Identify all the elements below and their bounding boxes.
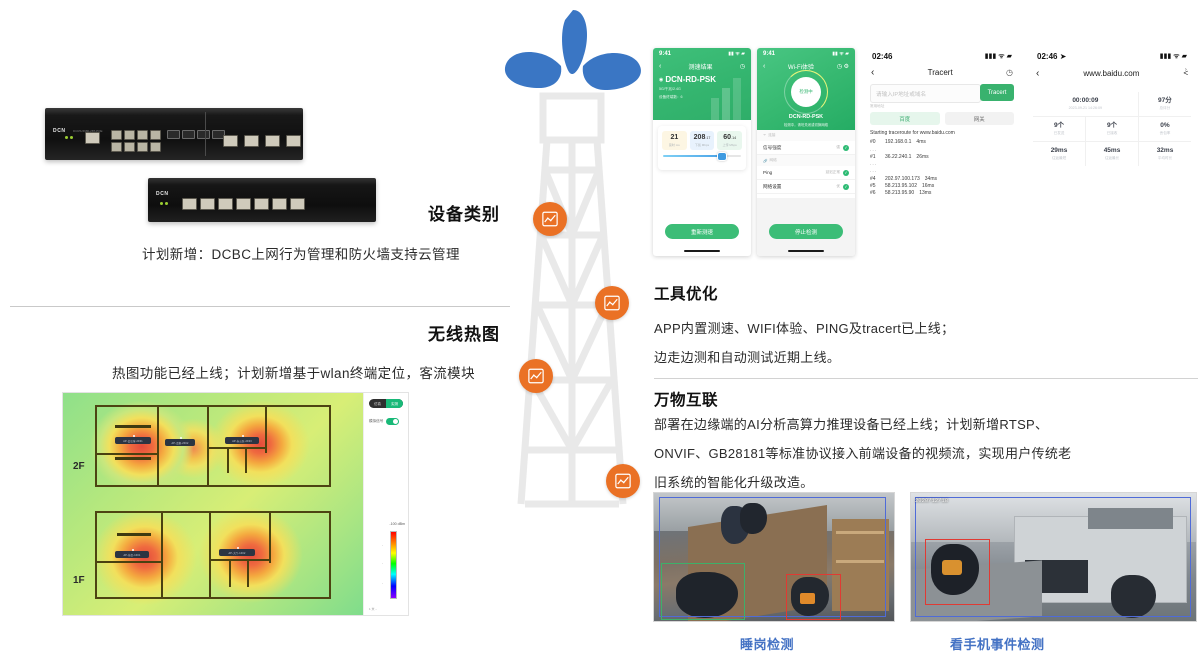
page-title-url: www.baidu.com xyxy=(1083,69,1139,78)
hop-row: #658.213.95.9013ms xyxy=(870,191,1020,196)
speedtest-header: 9:41 ▮▮ ᯤ ▰ ‹ 测速结果 ◷ ◉ DCN-RD-PSK 5G/千兆/… xyxy=(653,48,751,120)
detection-box-alert xyxy=(925,539,990,605)
section-title-device-category: 设备类别 xyxy=(428,200,500,225)
floor-label-2f: 2F xyxy=(73,461,85,472)
segment-option-simulated[interactable]: 仿真 xyxy=(369,399,386,408)
metric-rtt-avg: 32ms 平均时长 xyxy=(1139,142,1191,166)
detection-box-person xyxy=(661,563,745,620)
metric-rtt-max: 45ms 往返最长 xyxy=(1086,142,1139,166)
back-icon[interactable]: ‹ xyxy=(1036,68,1039,79)
petal-center xyxy=(562,10,587,74)
metrics-row: 29ms 往返最短 45ms 往返最长 32ms 平均时长 xyxy=(1033,142,1191,166)
status-time: 02:46 xyxy=(872,52,892,61)
divider-right xyxy=(654,378,1198,379)
metric-duration: 00:00:09 2023-09-21 14:26:09 xyxy=(1033,92,1139,116)
list-item[interactable]: 信号强度 强✓ xyxy=(757,141,855,155)
ssid-sub2: 设备终端数：6 xyxy=(659,95,683,100)
tool-opt-line1: APP内置测速、WIFI体验、PING及tracert已上线； xyxy=(654,318,954,337)
simulated-signal-label: 模拟信号 xyxy=(369,419,383,424)
nav-bar: ‹ 测速结果 ◷ xyxy=(653,60,751,72)
ap-marker[interactable]: AP-前台-1F01 xyxy=(115,551,149,558)
heatmap-side-panel: 仿真 实测 模拟信号 -100 dBm - - - 1 米 ⎯ xyxy=(363,393,408,615)
phone-screenshot-tracert: 02:46 ▮▮▮ ᯤ ▰ ‹ Tracert ◷ 请输入IP地址或域名 Tra… xyxy=(862,48,1022,256)
metric-sent: 9个 已发送 xyxy=(1033,117,1086,141)
ap-marker[interactable]: AP-办公区-2F03 xyxy=(225,437,259,444)
phone-screenshot-webtest: 02:46 ➤ ▮▮▮ ᯤ ▰ ‹ www.baidu.com ⩻ 00:00:… xyxy=(1027,48,1197,248)
log-header: Starting traceroute for www.baidu.com xyxy=(870,131,1020,136)
simulated-signal-toggle-row[interactable]: 模拟信号 xyxy=(369,418,399,425)
phone-screenshot-wifi-experience: 9:41 ▮▮ ᯤ ▰ ‹ Wi-Fi体验 ◷ ⚙ 检测中 DCN-RD-PSK… xyxy=(757,48,855,256)
location-arrow-icon: ➤ xyxy=(1060,52,1067,61)
metric-received: 9个 已接收 xyxy=(1086,117,1139,141)
webtest-metrics-grid: 00:00:09 2023-09-21 14:26:09 97分 总评分 9个 … xyxy=(1033,92,1191,166)
chart-icon-badge-2[interactable] xyxy=(595,286,629,320)
detection-box-alert xyxy=(786,574,841,621)
chart-icon xyxy=(527,367,545,385)
petal-group xyxy=(505,10,641,90)
stat-download: 208.17 下载 Mbps xyxy=(690,131,715,150)
hop-row: #136.22.240.126ms xyxy=(870,155,1020,160)
status-time: 9:41 xyxy=(659,51,671,57)
home-indicator xyxy=(788,250,824,252)
network-switch-photo-top: DCN DCRS-5980-28T-POE xyxy=(45,108,303,160)
history-icon[interactable]: ◷ xyxy=(1006,68,1013,77)
hop-dots: ... xyxy=(870,148,1020,153)
list-item[interactable]: 网络设置 优✓ xyxy=(757,180,855,194)
left-column: DCN DCRS-5980-28T-POE DCN 设备类别 计划新增：DCBC… xyxy=(0,0,520,656)
device-brand-label-2: DCN xyxy=(156,191,169,197)
photo-caption-phone-usage: 看手机事件检测 xyxy=(950,634,1045,653)
tracert-output-log: Starting traceroute for www.baidu.com #0… xyxy=(870,131,1020,198)
back-icon[interactable]: ‹ xyxy=(659,63,661,70)
back-icon[interactable]: ‹ xyxy=(763,63,765,70)
wifi-exp-header: 9:41 ▮▮ ᯤ ▰ ‹ Wi-Fi体验 ◷ ⚙ 检测中 DCN-RD-PSK… xyxy=(757,48,855,130)
preset-gateway[interactable]: 网关 xyxy=(945,112,1015,125)
surveillance-photo-phone-usage-detection: 2020/12/18 xyxy=(910,492,1197,622)
list-item[interactable]: Ping 延迟正常✓ xyxy=(757,166,855,180)
speedtest-stats: 21 延时 ms 208.17 下载 Mbps 60.14 上传 Mbps xyxy=(658,126,746,150)
check-icon: ✓ xyxy=(843,145,849,151)
section-body-wireless-heatmap: 热图功能已经上线；计划新增基于wlan终端定位，客流模块 xyxy=(112,362,475,382)
ssid-sub1: 5G/千兆/2.4G xyxy=(659,87,681,92)
floor-label-1f: 1F xyxy=(73,575,85,586)
section-title-tool-optimization: 工具优化 xyxy=(654,282,718,304)
wifi-dot-icon: ◉ xyxy=(659,77,663,83)
signal-icon: ᯤ xyxy=(763,133,766,138)
status-bar: 9:41 ▮▮ ᯤ ▰ xyxy=(757,48,855,60)
group-header-connection: ᯤ 连接 xyxy=(757,130,855,141)
metrics-row: 00:00:09 2023-09-21 14:26:09 97分 总评分 xyxy=(1033,92,1191,117)
iot-line1: 部署在边缘端的AI分析高算力推理设备已经上线；计划新增RTSP、 xyxy=(654,414,1048,433)
hop-row: #4202.97.100.17334ms xyxy=(870,177,1020,182)
link-icon: 🔗 xyxy=(763,159,767,163)
petal-right xyxy=(583,53,641,90)
tower-illustration xyxy=(495,0,650,530)
photo-caption-sleeping: 睡岗检测 xyxy=(740,634,794,653)
back-icon[interactable]: ‹ xyxy=(871,67,874,78)
ap-marker[interactable]: AP-大厅-1F02 xyxy=(219,549,255,556)
scale-indicator: 1 米 ⎯ xyxy=(369,607,377,611)
video-timestamp: 2020/12/18 xyxy=(915,497,948,504)
page-title: 测速结果 xyxy=(689,62,713,71)
divider-left xyxy=(10,306,510,307)
hop-row: #558.213.95.10216ms xyxy=(870,184,1020,189)
device-brand-label: DCN xyxy=(53,128,66,134)
tool-opt-line2: 边走边测和自动测试近期上线。 xyxy=(654,347,840,366)
chart-icon xyxy=(603,294,621,312)
speedtest-result-card: 21 延时 ms 208.17 下载 Mbps 60.14 上传 Mbps xyxy=(658,126,746,170)
signal-colorbar xyxy=(390,531,397,599)
segment-option-measured[interactable]: 实测 xyxy=(386,399,403,408)
header-bar-decoration xyxy=(709,74,749,120)
floorplan-1f: AP-前台-1F01 AP-大厅-1F02 xyxy=(95,511,331,599)
network-switch-photo-bottom: DCN xyxy=(148,178,376,222)
status-bar: 02:46 ➤ ▮▮▮ ᯤ ▰ xyxy=(1027,48,1197,64)
metric-rtt-min: 29ms 往返最短 xyxy=(1033,142,1086,166)
iot-line2: ONVIF、GB28181等标准协议接入前端设备的视频流，实现用户传统老 xyxy=(654,443,1071,462)
preset-address-tabs: 百度 网关 xyxy=(870,112,1014,125)
share-icon[interactable]: ⩻ xyxy=(1183,68,1188,78)
progress-ring: 检测中 xyxy=(784,70,828,114)
group-header-network: 🔗 网络 xyxy=(757,155,855,166)
status-icons: ▮▮▮ ᯤ ▰ xyxy=(1160,52,1187,61)
history-icon[interactable]: ◷ xyxy=(740,63,745,70)
speed-slider[interactable] xyxy=(663,155,741,158)
settings-icons[interactable]: ◷ ⚙ xyxy=(837,63,849,70)
phone-screenshot-speedtest: 9:41 ▮▮ ᯤ ▰ ‹ 测速结果 ◷ ◉ DCN-RD-PSK 5G/千兆/… xyxy=(653,48,751,256)
floorplan-2f: AP-会议室-2F01 AP-走廊-2F02 AP-办公区-2F03 xyxy=(95,405,331,487)
chart-icon xyxy=(614,472,632,490)
tower-svg xyxy=(495,0,650,530)
simulated-signal-switch[interactable] xyxy=(386,418,399,425)
chart-icon-badge-4[interactable] xyxy=(606,464,640,498)
home-indicator xyxy=(684,250,720,252)
section-title-wireless-heatmap: 无线热图 xyxy=(428,320,500,345)
stat-upload: 60.14 上传 Mbps xyxy=(717,131,742,150)
section-body-device-category: 计划新增：DCBC上网行为管理和防火墙支持云管理 xyxy=(142,243,460,263)
hop-dots: ... xyxy=(870,162,1020,167)
stat-latency: 21 延时 ms xyxy=(662,131,687,150)
heatmap-screenshot: AP-会议室-2F01 AP-走廊-2F02 AP-办公区-2F03 AP-前台… xyxy=(62,392,409,616)
common-address-label: 常用地址 xyxy=(870,104,884,109)
metric-score: 97分 总评分 xyxy=(1139,92,1191,116)
tracert-input[interactable]: 请输入IP地址或域名 xyxy=(870,84,981,103)
metrics-row: 9个 已发送 9个 已接收 0% 丢包率 xyxy=(1033,117,1191,142)
nav-bar: ‹ Tracert ◷ xyxy=(862,64,1022,80)
chart-icon xyxy=(541,210,559,228)
status-icons: ▮▮ ᯤ ▰ xyxy=(728,51,745,57)
ring-status-text: 检测中 xyxy=(791,77,821,107)
section-title-iot: 万物互联 xyxy=(654,388,718,410)
hop-row: #0192.168.0.14ms xyxy=(870,140,1020,145)
metric-loss-rate: 0% 丢包率 xyxy=(1139,117,1191,141)
heatmap-canvas: AP-会议室-2F01 AP-走廊-2F02 AP-办公区-2F03 AP-前台… xyxy=(63,393,366,615)
check-icon: ✓ xyxy=(843,170,849,176)
status-time: 9:41 xyxy=(763,51,775,57)
petal-left xyxy=(505,52,561,88)
status-time-group: 02:46 ➤ xyxy=(1037,52,1066,61)
surveillance-photo-sleeping-detection xyxy=(653,492,895,622)
ap-marker[interactable]: AP-会议室-2F01 xyxy=(115,437,151,444)
chart-icon-badge-1[interactable] xyxy=(533,202,567,236)
ssid-sub: 检测中，请勿关闭或切换网络 xyxy=(757,122,855,127)
status-icons: ▮▮ ᯤ ▰ xyxy=(832,51,849,57)
heatmap-mode-segment[interactable]: 仿真 实测 xyxy=(369,399,403,408)
status-bar: 02:46 ▮▮▮ ᯤ ▰ xyxy=(862,48,1022,64)
ssid-label: DCN-RD-PSK xyxy=(757,114,855,120)
status-icons: ▮▮▮ ᯤ ▰ xyxy=(985,52,1012,61)
hop-dots: ... xyxy=(870,169,1020,174)
status-bar: 9:41 ▮▮ ᯤ ▰ xyxy=(653,48,751,60)
preset-baidu[interactable]: 百度 xyxy=(870,112,940,125)
retest-button[interactable]: 重新测速 xyxy=(665,224,739,239)
check-icon: ✓ xyxy=(843,184,849,190)
ap-marker[interactable]: AP-走廊-2F02 xyxy=(165,439,195,446)
stop-test-button[interactable]: 停止检测 xyxy=(769,224,843,239)
status-time: 02:46 xyxy=(1037,52,1057,61)
nav-bar: ‹ www.baidu.com ⩻ xyxy=(1027,64,1197,82)
page-title: Wi-Fi体验 xyxy=(788,62,814,71)
page-title: Tracert xyxy=(928,68,953,77)
tracert-run-button[interactable]: Tracert xyxy=(980,84,1014,101)
iot-line3: 旧系统的智能化升级改造。 xyxy=(654,472,814,491)
legend-max-label: -100 dBm xyxy=(389,522,405,526)
chart-icon-badge-3[interactable] xyxy=(519,359,553,393)
